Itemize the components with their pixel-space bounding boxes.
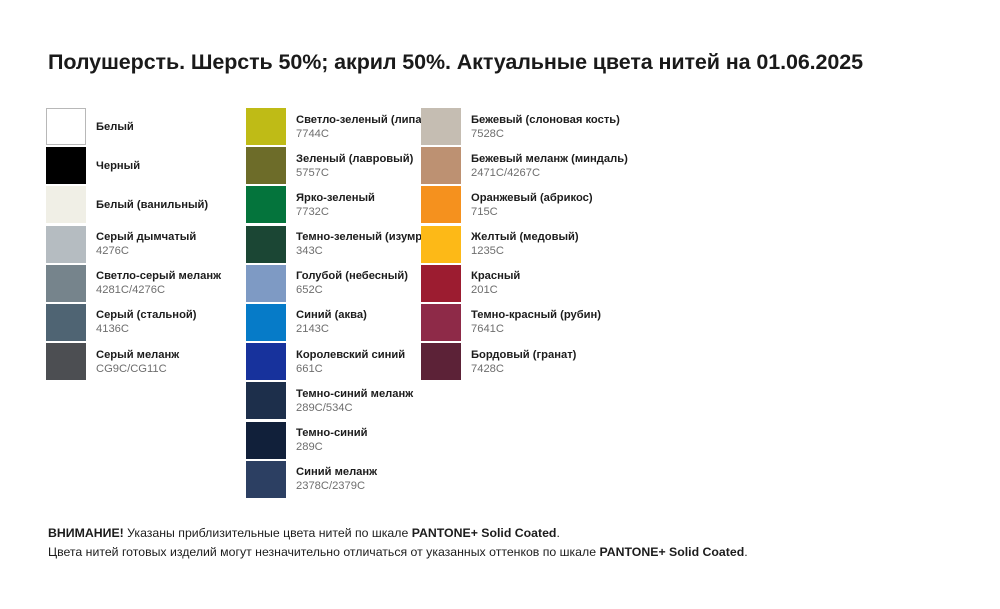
swatch-labels: Темно-красный (рубин)7641C: [471, 304, 601, 341]
swatch-labels: Серый (стальной)4136C: [96, 304, 197, 341]
swatch-pantone-code: 289C: [296, 440, 368, 454]
color-swatch[interactable]: [246, 186, 286, 223]
swatch-name: Бежевый меланж (миндаль): [471, 152, 628, 166]
swatch-name: Темно-зеленый (изумруд): [296, 230, 439, 244]
swatch-name: Светло-зеленый (липа): [296, 113, 425, 127]
swatch-labels: Бордовый (гранат)7428C: [471, 343, 576, 380]
swatch-labels: Синий меланж2378C/2379C: [296, 461, 377, 498]
footer-line-1-text: Указаны приблизительные цвета нитей по ш…: [124, 526, 412, 540]
footer-pantone-label-2: PANTONE+ Solid Coated: [599, 545, 744, 559]
color-swatch[interactable]: [246, 108, 286, 145]
swatch-name: Бордовый (гранат): [471, 348, 576, 362]
swatch-name: Оранжевый (абрикос): [471, 191, 593, 205]
color-swatch[interactable]: [421, 108, 461, 145]
swatch-labels: Темно-синий меланж289C/534C: [296, 382, 413, 419]
swatch-name: Синий (аква): [296, 308, 367, 322]
swatch-labels: Ярко-зеленый7732C: [296, 186, 375, 223]
swatch-name: Желтый (медовый): [471, 230, 579, 244]
swatch-pantone-code: 7732C: [296, 205, 375, 219]
swatch-pantone-code: 4281C/4276C: [96, 283, 221, 297]
swatch-pantone-code: 343C: [296, 244, 439, 258]
swatch-name: Зеленый (лавровый): [296, 152, 413, 166]
swatch-name: Белый (ванильный): [96, 198, 208, 212]
color-swatch[interactable]: [246, 304, 286, 341]
page-title: Полушерсть. Шерсть 50%; акрил 50%. Актуа…: [48, 50, 863, 75]
swatch-labels: Королевский синий661C: [296, 343, 405, 380]
swatch-pantone-code: 201C: [471, 283, 520, 297]
swatch-name: Темно-синий меланж: [296, 387, 413, 401]
swatch-name: Темно-синий: [296, 426, 368, 440]
swatch-labels: Голубой (небесный)652C: [296, 265, 408, 302]
swatch-pantone-code: 2378C/2379C: [296, 479, 377, 493]
swatch-labels: Красный201C: [471, 265, 520, 302]
color-swatch[interactable]: [46, 343, 86, 380]
swatch-name: Светло-серый меланж: [96, 269, 221, 283]
swatch-name: Ярко-зеленый: [296, 191, 375, 205]
footer-disclaimer: ВНИМАНИЕ! Указаны приблизительные цвета …: [48, 524, 748, 562]
swatch-name: Голубой (небесный): [296, 269, 408, 283]
color-swatch[interactable]: [421, 186, 461, 223]
swatch-pantone-code: 7428C: [471, 362, 576, 376]
color-swatch[interactable]: [46, 147, 86, 184]
swatch-labels: Белый (ванильный): [96, 186, 208, 223]
footer-attention-label: ВНИМАНИЕ!: [48, 526, 124, 540]
swatch-labels: Светло-зеленый (липа)7744C: [296, 108, 425, 145]
swatch-labels: Бежевый (слоновая кость)7528C: [471, 108, 620, 145]
color-swatch[interactable]: [246, 226, 286, 263]
swatch-pantone-code: 5757C: [296, 166, 413, 180]
color-swatch[interactable]: [46, 186, 86, 223]
swatch-labels: Серый меланжCG9C/CG11C: [96, 343, 179, 380]
color-swatch[interactable]: [421, 304, 461, 341]
color-swatch[interactable]: [246, 422, 286, 459]
swatch-pantone-code: 2143C: [296, 322, 367, 336]
footer-line-1: ВНИМАНИЕ! Указаны приблизительные цвета …: [48, 524, 748, 543]
swatch-labels: Черный: [96, 147, 140, 184]
swatch-labels: Белый: [96, 108, 134, 145]
color-swatch[interactable]: [46, 226, 86, 263]
footer-pantone-label-1: PANTONE+ Solid Coated: [412, 526, 557, 540]
color-swatch[interactable]: [46, 265, 86, 302]
swatch-labels: Синий (аква)2143C: [296, 304, 367, 341]
color-swatch[interactable]: [246, 147, 286, 184]
swatch-labels: Желтый (медовый)1235C: [471, 226, 579, 263]
swatch-pantone-code: 2471C/4267C: [471, 166, 628, 180]
swatch-labels: Светло-серый меланж4281C/4276C: [96, 265, 221, 302]
swatch-labels: Оранжевый (абрикос)715C: [471, 186, 593, 223]
swatch-pantone-code: 7528C: [471, 127, 620, 141]
swatch-name: Бежевый (слоновая кость): [471, 113, 620, 127]
swatch-name: Черный: [96, 159, 140, 173]
color-swatch[interactable]: [246, 343, 286, 380]
swatch-labels: Темно-синий289C: [296, 422, 368, 459]
color-swatch[interactable]: [421, 343, 461, 380]
swatch-name: Белый: [96, 120, 134, 134]
swatch-pantone-code: 4136C: [96, 322, 197, 336]
swatch-pantone-code: 4276C: [96, 244, 196, 258]
swatch-pantone-code: 661C: [296, 362, 405, 376]
color-swatch[interactable]: [421, 226, 461, 263]
color-swatch[interactable]: [46, 108, 86, 145]
swatch-name: Серый меланж: [96, 348, 179, 362]
swatch-name: Темно-красный (рубин): [471, 308, 601, 322]
swatch-pantone-code: 652C: [296, 283, 408, 297]
swatch-pantone-code: 1235C: [471, 244, 579, 258]
color-swatch[interactable]: [246, 265, 286, 302]
swatch-pantone-code: 7744C: [296, 127, 425, 141]
swatch-labels: Серый дымчатый4276C: [96, 226, 196, 263]
swatch-labels: Бежевый меланж (миндаль)2471C/4267C: [471, 147, 628, 184]
swatch-pantone-code: 715C: [471, 205, 593, 219]
footer-line-2: Цвета нитей готовых изделий могут незнач…: [48, 543, 748, 562]
swatch-name: Красный: [471, 269, 520, 283]
swatch-name: Серый (стальной): [96, 308, 197, 322]
swatch-name: Синий меланж: [296, 465, 377, 479]
swatch-name: Королевский синий: [296, 348, 405, 362]
swatch-pantone-code: CG9C/CG11C: [96, 362, 179, 376]
footer-line-1-end: .: [556, 526, 559, 540]
swatch-labels: Темно-зеленый (изумруд)343C: [296, 226, 439, 263]
color-swatch[interactable]: [246, 461, 286, 498]
swatch-pantone-code: 7641C: [471, 322, 601, 336]
swatch-name: Серый дымчатый: [96, 230, 196, 244]
swatch-pantone-code: 289C/534C: [296, 401, 413, 415]
color-swatch[interactable]: [421, 147, 461, 184]
footer-line-2-text: Цвета нитей готовых изделий могут незнач…: [48, 545, 599, 559]
color-swatch[interactable]: [421, 265, 461, 302]
footer-line-2-end: .: [744, 545, 747, 559]
color-swatch[interactable]: [46, 304, 86, 341]
swatch-labels: Зеленый (лавровый)5757C: [296, 147, 413, 184]
color-swatch[interactable]: [246, 382, 286, 419]
